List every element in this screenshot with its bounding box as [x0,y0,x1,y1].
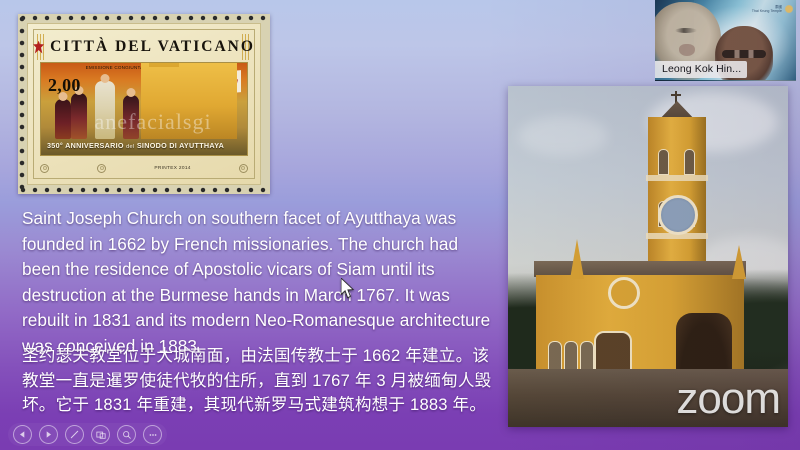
stamp-anniversary-del: del [126,144,134,150]
stamp-corner-mark [97,164,106,173]
view-options-button[interactable] [91,425,110,444]
stamp-figure [71,93,87,139]
stamp-denomination: 2,00 [48,75,81,96]
church-tower-window [684,149,695,175]
stamp-anniversary-subject: SINODO DI AYUTTHAYA [137,141,224,150]
stamp-printer-credit: PRINTEX 2014 [154,166,190,171]
stamp-figure [55,99,71,139]
church-facade-medallion [658,195,698,235]
previous-slide-button[interactable] [13,425,32,444]
stamp-church-illustration [141,62,237,139]
temple-logo-mark-icon [785,5,793,13]
annotate-button[interactable] [65,425,84,444]
stamp-anniversary-caption: 350° ANNIVERSARIO del SINODO DI AYUTTHAY… [47,141,224,150]
stamp-illustration: EMISSIONE CONGIUNTA THAILANDIA - VATICAN… [40,62,248,156]
stamp-figure-head [127,88,136,97]
church-tower-window [658,149,669,175]
stamp-corner-mark [239,164,248,173]
stamp-footer: PRINTEX 2014 [40,160,248,176]
next-slide-button[interactable] [39,425,58,444]
pen-icon [69,429,80,440]
temple-logo: 泰國 Thai Krung Temple [747,2,793,15]
zoom-shared-screen: CITTÀ DEL VATICANO EMISSIONE CONGIUNTA T… [0,0,800,450]
zoom-watermark: zoom [676,377,780,421]
church-tower-band [646,175,708,181]
next-icon [44,430,53,439]
stamp-inner: CITTÀ DEL VATICANO EMISSIONE CONGIUNTA T… [27,23,261,185]
stamp-anniversary-number: 350° [47,141,63,150]
stamp-country-title: CITTÀ DEL VATICANO [50,38,255,56]
slide-text-chinese: 圣约瑟夫教堂位于大城南面，由法国传教士于 1662 年建立。该教堂一直是暹罗使徒… [22,344,494,418]
slide-text-english: Saint Joseph Church on southern facet of… [22,206,492,359]
stamp-church-tower [149,62,179,67]
ellipsis-icon [147,429,159,441]
participant-video-tile[interactable]: 泰國 Thai Krung Temple Leong Kok Hin... [655,0,796,81]
stamp-corner-mark [40,164,49,173]
stamp-figure-head [101,74,110,83]
prev-icon [18,430,27,439]
more-options-button[interactable] [143,425,162,444]
slide-control-toolbar [8,423,167,446]
stamp-figure-bishop [95,81,115,139]
participant-name-label: Leong Kok Hin... [655,61,747,78]
zoom-search-button[interactable] [117,425,136,444]
temple-logo-line-2: Thai Krung Temple [752,9,782,13]
screens-icon [96,430,106,440]
church-rose-window [608,277,640,309]
stamp-anniversary-text: ANNIVERSARIO [65,141,124,150]
vatican-stamp-image: CITTÀ DEL VATICANO EMISSIONE CONGIUNTA T… [18,14,270,194]
photo-cloud [518,116,608,156]
stamp-header: CITTÀ DEL VATICANO [38,36,250,58]
saint-joseph-church-photo: zoom [508,86,788,427]
stamp-figure [123,95,139,139]
magnifier-icon [122,430,132,440]
temple-logo-text: 泰國 Thai Krung Temple [752,5,782,13]
